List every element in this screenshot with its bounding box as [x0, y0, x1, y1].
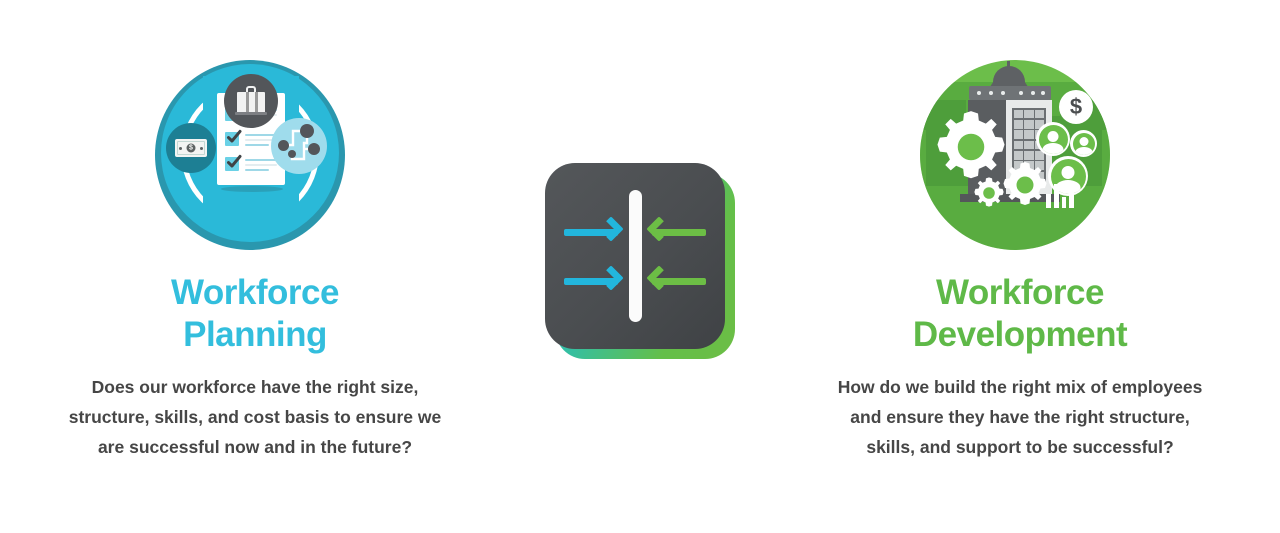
briefcase-icon — [224, 74, 278, 128]
workforce-development-description: How do we build the right mix of employe… — [830, 372, 1210, 462]
gear-icon — [1000, 160, 1050, 210]
infographic-canvas: $ Workforce Planning Does our workforce … — [0, 0, 1280, 533]
tile-surface — [545, 163, 725, 349]
check-icon — [226, 129, 242, 145]
center-divider-bar — [629, 190, 642, 322]
title-line-2: Development — [913, 314, 1127, 356]
user-avatar-icon — [1036, 122, 1070, 156]
check-icon — [226, 154, 242, 170]
network-nodes-icon — [271, 118, 327, 174]
converging-arrows-icon — [545, 163, 735, 359]
workforce-planning-column: $ Workforce Planning Does our workforce … — [55, 60, 455, 462]
page-title-workforce-planning: Workforce Planning — [171, 272, 339, 356]
building-cornice — [969, 86, 1051, 100]
clipboard-shadow — [221, 186, 283, 192]
arrow-left-bottom-head — [646, 265, 671, 290]
page-title-workforce-development: Workforce Development — [913, 272, 1127, 356]
arrow-left-top-head — [646, 216, 671, 241]
workforce-development-column: $ — [820, 60, 1220, 462]
badge-green-circle: $ — [920, 60, 1110, 250]
workforce-planning-description: Does our workforce have the right size, … — [65, 372, 445, 462]
user-avatar-icon — [1070, 130, 1097, 157]
gear-icon — [932, 108, 1010, 186]
dollar-coin-icon: $ — [1059, 90, 1093, 124]
bar-chart-icon — [1046, 182, 1074, 208]
arrow-right-top-head — [598, 216, 623, 241]
gear-icon — [972, 176, 1006, 210]
money-bill-icon: $ — [166, 123, 216, 173]
workforce-development-badge-icon: $ — [920, 60, 1120, 260]
title-line-1: Workforce — [171, 272, 339, 314]
title-line-1: Workforce — [913, 272, 1127, 314]
workforce-planning-badge-icon: $ — [155, 60, 355, 260]
arrow-right-bottom-head — [598, 265, 623, 290]
title-line-2: Planning — [171, 314, 339, 356]
